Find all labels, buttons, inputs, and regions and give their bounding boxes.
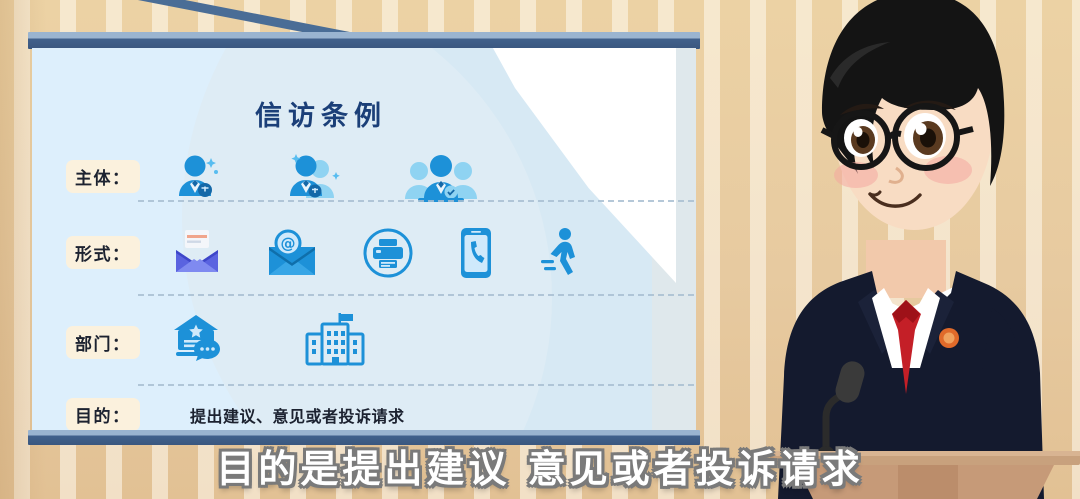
board-face: 信访条例 主体： (32, 48, 696, 430)
board-title: 信访条例 (32, 94, 610, 133)
row-divider-3 (138, 384, 694, 386)
government-hall-icon (172, 313, 230, 374)
board-content: 信访条例 主体： (32, 48, 696, 430)
office-building-flag-icon (304, 312, 366, 375)
row-icons-department (172, 312, 366, 375)
row-label-form: 形式： (66, 236, 140, 269)
row-divider-1 (138, 200, 694, 202)
svg-text:@: @ (281, 235, 296, 253)
board-row-purpose: 目的： 提出建议、意见或者投诉请求 (32, 396, 696, 430)
subtitle-caption: 目的是提出建议 意见或者投诉请求 (0, 438, 1080, 493)
mobile-phone-icon (458, 226, 494, 285)
row-label-department: 部门： (66, 326, 140, 359)
email-at-icon: @ (266, 229, 318, 282)
row-label-subject: 主体： (66, 160, 140, 193)
presentation-board: 信访条例 主体： (28, 32, 700, 445)
scene-root: 信访条例 主体： (0, 0, 1080, 499)
walking-person-icon (538, 227, 584, 284)
fax-printer-icon (362, 227, 414, 284)
row-divider-2 (138, 294, 694, 296)
row-label-purpose: 目的： (66, 398, 140, 430)
purpose-text: 提出建议、意见或者投诉请求 (190, 403, 405, 427)
board-rail-top (28, 32, 700, 49)
row-icons-form: @ (172, 226, 584, 285)
board-row-form: 形式： (32, 220, 696, 286)
board-row-department: 部门： (32, 304, 696, 374)
open-letter-icon (172, 228, 222, 283)
